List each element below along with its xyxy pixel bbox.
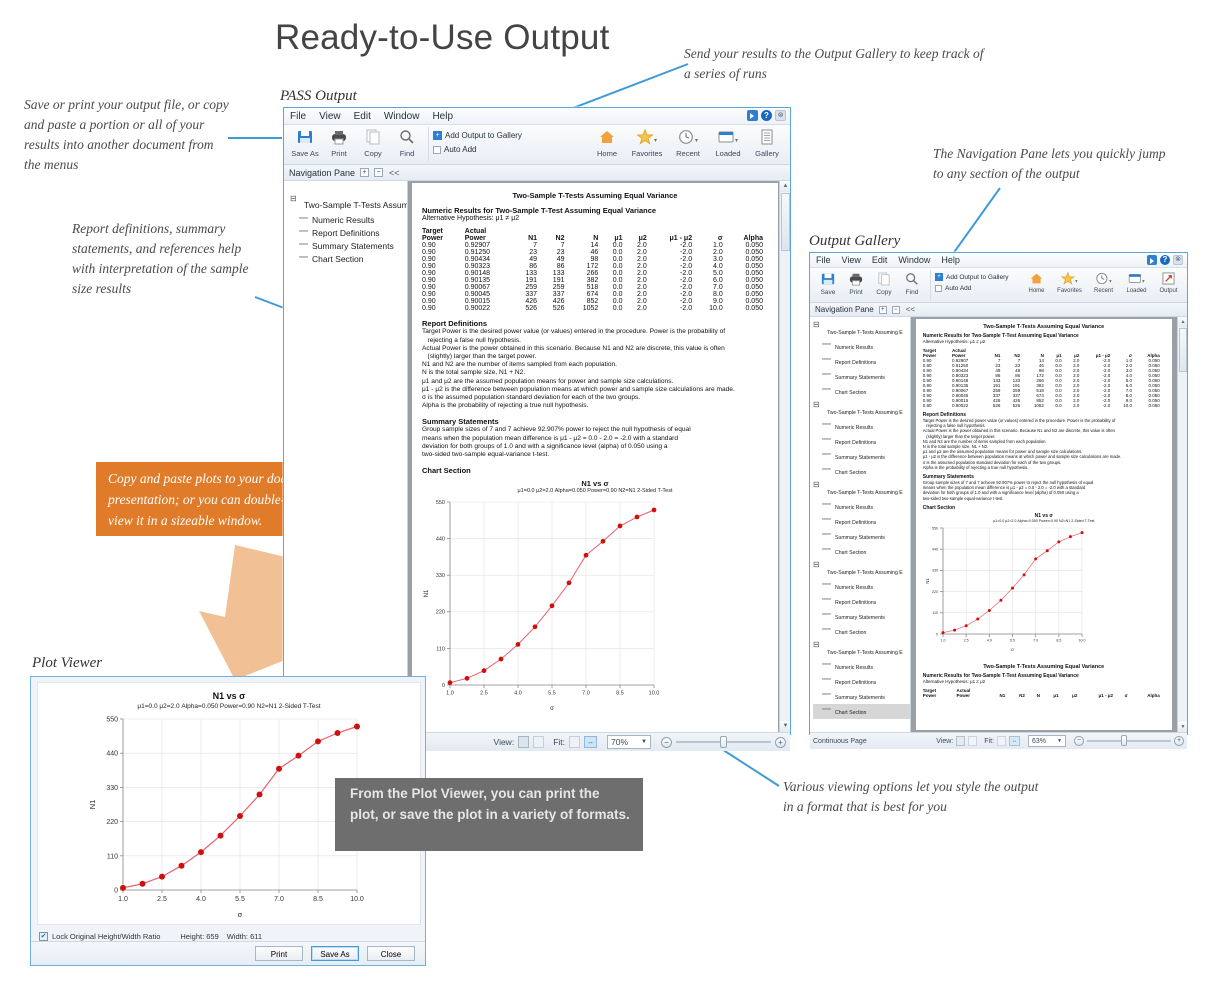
- table-cell: 0.91250: [465, 249, 515, 256]
- plot-height-label: Height: 659: [180, 932, 218, 941]
- table-cell: 0.90067: [465, 284, 515, 291]
- gallery-summary-text: Group sample sizes of 7 and 7 achieve 92…: [923, 480, 1165, 501]
- help-icon[interactable]: ?: [761, 110, 772, 121]
- gallery-chart-heading: Chart Section: [923, 505, 1165, 511]
- expand-all-icon[interactable]: +: [360, 168, 369, 177]
- report-line: Group sample sizes of 7 and 7 achieve 92…: [422, 426, 768, 434]
- pass-view-controls: View: Fit: ↔ 70% ▼ − +: [494, 735, 786, 749]
- table-cell: 0.90323: [465, 263, 515, 270]
- gallery-label: Gallery: [748, 149, 786, 158]
- table-cell: 0.90: [422, 305, 465, 312]
- tree-label: Summary Statements: [831, 535, 885, 541]
- recent-button[interactable]: Recent: [1087, 270, 1120, 294]
- report-line: deviation for both groups of 1.0 and wit…: [422, 443, 768, 451]
- minimize-icon[interactable]: ⊗: [1173, 255, 1183, 265]
- svg-text:7.0: 7.0: [582, 691, 590, 697]
- table-header-cell: N2: [1010, 693, 1030, 698]
- scroll-down-arrow[interactable]: ▼: [1178, 722, 1187, 732]
- table-cell: 0.050: [728, 249, 768, 256]
- star-icon: [1052, 272, 1087, 287]
- printer-icon: [842, 272, 870, 288]
- svg-text:σ: σ: [1011, 647, 1014, 652]
- print-button[interactable]: Print: [255, 946, 303, 961]
- table-cell: 49: [542, 256, 569, 263]
- table-cell: 0.90148: [465, 270, 515, 277]
- report-line: N is the total sample size, N1 + N2.: [422, 369, 768, 377]
- auto-add-checkbox[interactable]: Auto Add: [935, 285, 971, 292]
- svg-text:110: 110: [932, 611, 938, 615]
- output-gallery-window[interactable]: File View Edit Window Help ? ⊗ Save Prin…: [809, 252, 1188, 735]
- svg-text:7.0: 7.0: [1033, 638, 1038, 642]
- svg-text:440: 440: [932, 547, 938, 551]
- list-icon: [748, 129, 786, 148]
- copy-icon: [356, 129, 390, 148]
- pass-document-pane[interactable]: Two-Sample T-Tests Assuming Equal Varian…: [408, 181, 790, 732]
- table-cell: 1052: [569, 305, 603, 312]
- tree-label: Chart Section: [831, 710, 866, 716]
- th-target: Target: [422, 228, 465, 235]
- home-button[interactable]: Home: [588, 127, 626, 158]
- svg-text:2.5: 2.5: [963, 638, 968, 642]
- loaded-label: Loaded: [1120, 288, 1153, 294]
- table-cell: 259: [542, 284, 569, 291]
- pass-ribbon[interactable]: Save As Print Copy Find: [284, 125, 790, 165]
- table-cell: 0.0: [603, 242, 627, 249]
- table-cell: 0.050: [728, 256, 768, 263]
- table-cell: 0.0: [603, 305, 627, 312]
- svg-text:10.0: 10.0: [350, 896, 364, 903]
- plot-width-label: Width: 611: [227, 932, 262, 941]
- page-mode-label: Continuous Page: [813, 738, 867, 745]
- report-line: N1 and N2 are the number of items sample…: [422, 361, 768, 369]
- add-output-to-gallery-button[interactable]: + Add Output to Gallery: [935, 273, 1009, 281]
- chevron-down-icon: ▼: [1057, 738, 1062, 744]
- label-plot-viewer: Plot Viewer: [32, 655, 102, 672]
- zoom-in-button[interactable]: +: [775, 737, 786, 748]
- save-label: Save: [814, 289, 842, 296]
- table-cell: 2.0: [628, 284, 652, 291]
- scroll-up-arrow[interactable]: ▲: [1178, 317, 1187, 327]
- th-actual-power: Power: [465, 235, 515, 242]
- table-row: 0.900.900154264268520.02.0-2.09.00.050: [422, 298, 768, 305]
- save-as-button[interactable]: Save As: [311, 946, 359, 961]
- table-cell: 0.050: [728, 277, 768, 284]
- table-header-cell: μ1: [1045, 693, 1064, 698]
- th-mu-diff: μ1 - μ2: [652, 235, 697, 242]
- gallery-menubar[interactable]: File View Edit Window Help ? ⊗: [810, 253, 1187, 268]
- auto-add-label: Auto Add: [945, 285, 971, 292]
- copy-button[interactable]: Copy: [356, 127, 390, 158]
- view-single-page-icon[interactable]: [956, 736, 965, 746]
- tree-label: Chart Section: [831, 630, 866, 636]
- label-output-gallery: Output Gallery: [809, 233, 900, 250]
- svg-text:330: 330: [436, 573, 445, 579]
- table-cell: 2.0: [697, 249, 728, 256]
- menu-view[interactable]: View: [842, 255, 861, 265]
- svg-text:2.5: 2.5: [480, 691, 488, 697]
- tree-root-label: Two-Sample T-Tests Assuming E: [823, 490, 903, 496]
- copy-button[interactable]: Copy: [870, 270, 898, 296]
- add-output-label: Add Output to Gallery: [445, 131, 522, 140]
- add-output-to-gallery-button[interactable]: + Add Output to Gallery: [433, 131, 522, 140]
- table-cell: 2.0: [628, 263, 652, 270]
- tree-label: Summary Statements: [831, 695, 885, 701]
- gallery-view-controls: View: Fit: ↔ 63% ▼ − +: [936, 735, 1184, 747]
- table-header-cell: Power: [923, 693, 957, 698]
- tree-root-label: Two-Sample T-Tests Assuming E: [823, 410, 903, 416]
- save-as-button[interactable]: Save As: [288, 127, 322, 158]
- tree-label: Chart Section: [831, 550, 866, 556]
- numeric-results-heading: Numeric Results for Two-Sample T-Test As…: [422, 206, 768, 215]
- collapse-all-icon[interactable]: −: [374, 168, 383, 177]
- output-icon: [1153, 272, 1184, 287]
- hide-pane-icon[interactable]: <<: [906, 305, 915, 314]
- favorites-label: Favorites: [626, 149, 668, 158]
- th-alpha: Alpha: [728, 235, 768, 242]
- report-definitions-text: Target Power is the desired power value …: [422, 328, 768, 410]
- print-button[interactable]: Print: [842, 270, 870, 296]
- gallery-navigation-tree[interactable]: Two-Sample T-Tests Assuming ENumeric Res…: [810, 317, 911, 732]
- menu-help[interactable]: Help: [941, 255, 960, 265]
- tree-label: Report Definitions: [831, 440, 876, 446]
- pass-chart-subtitle: μ1=0.0 μ2=2.0 Alpha=0.050 Power=0.90 N2=…: [422, 488, 768, 494]
- ribbon-file-group: Save Print Copy Find: [814, 270, 926, 296]
- zoom-select[interactable]: 63% ▼: [1028, 735, 1066, 747]
- tree-label: Summary Statements: [831, 455, 885, 461]
- table-cell: -2.0: [652, 291, 697, 298]
- svg-text:8.5: 8.5: [1056, 638, 1061, 642]
- zoom-in-button[interactable]: +: [1174, 736, 1184, 746]
- table-cell: -2.0: [652, 298, 697, 305]
- chart-svg: 01102203304405501.02.54.05.57.08.510.0σN…: [923, 524, 1088, 652]
- annotation-report-definitions: Report definitions, summary statements, …: [72, 219, 267, 299]
- ribbon-gallery-group: + Add Output to Gallery Auto Add: [935, 270, 1009, 292]
- gallery-numeric-table-2: Target Actual PowerPowerN1N2Nμ1μ2μ1 - μ2…: [923, 688, 1165, 698]
- gallery-status-bar[interactable]: Continuous Page View: Fit: ↔ 63% ▼ − +: [810, 732, 1187, 749]
- tree-label: Report Definitions: [831, 600, 876, 606]
- checkbox-icon: [433, 146, 441, 154]
- nav-pane-title: Navigation Pane: [289, 168, 355, 178]
- favorites-button[interactable]: Favorites: [1052, 270, 1087, 294]
- svg-text:2.5: 2.5: [157, 896, 167, 903]
- svg-text:σ: σ: [550, 706, 554, 711]
- zoom-slider-thumb[interactable]: [1121, 735, 1127, 746]
- menu-view[interactable]: View: [319, 111, 341, 122]
- find-button[interactable]: Find: [390, 127, 424, 158]
- table-cell: 526: [515, 305, 542, 312]
- copy-label: Copy: [870, 289, 898, 296]
- report-line: rejecting a false null hypothesis.: [422, 337, 768, 345]
- table-cell: 0.90015: [465, 298, 515, 305]
- add-output-label: Add Output to Gallery: [946, 274, 1009, 281]
- run-icon[interactable]: [747, 110, 758, 121]
- save-as-label: Save As: [288, 149, 322, 158]
- zoom-slider[interactable]: [1087, 735, 1171, 747]
- find-label: Find: [898, 289, 926, 296]
- svg-text:0: 0: [114, 887, 118, 894]
- table-cell: 0.0: [603, 298, 627, 305]
- table-header-cell: σ: [1118, 693, 1133, 698]
- table-header-cell: Alpha: [1133, 693, 1165, 698]
- menu-window[interactable]: Window: [898, 255, 930, 265]
- gallery-chart: 01102203304405501.02.54.05.57.08.510.0σN…: [923, 524, 1165, 657]
- ribbon-right-group: Home Favorites Recent Loaded: [588, 127, 786, 158]
- svg-text:220: 220: [932, 590, 938, 594]
- table-cell: 0.90022: [465, 305, 515, 312]
- fit-width-icon[interactable]: ↔: [1009, 736, 1020, 746]
- svg-text:440: 440: [436, 537, 445, 543]
- table-cell: -2.0: [652, 270, 697, 277]
- report-line: Alpha is the probability of rejecting a …: [422, 402, 768, 410]
- close-button[interactable]: Close: [367, 946, 415, 961]
- svg-text:N1: N1: [424, 589, 430, 597]
- svg-text:110: 110: [436, 647, 445, 653]
- gallery-ribbon[interactable]: Save Print Copy Find: [810, 268, 1187, 303]
- svg-text:1.0: 1.0: [118, 896, 128, 903]
- svg-text:4.0: 4.0: [987, 638, 992, 642]
- alt-hypothesis: Alternative Hypothesis: μ1 ≠ μ2: [422, 215, 768, 223]
- gallery-document-pane[interactable]: Two-Sample T-Tests Assuming Equal Varian…: [911, 317, 1187, 732]
- collapse-all-icon[interactable]: −: [892, 306, 900, 314]
- table-row: 0.900.901351911913820.02.0-2.06.00.050: [422, 277, 768, 284]
- tree-label: Numeric Results: [831, 505, 873, 511]
- table-cell: 0.90: [422, 277, 465, 284]
- tree-label: Numeric Results: [308, 215, 374, 225]
- svg-text:σ: σ: [238, 910, 243, 918]
- find-button[interactable]: Find: [898, 270, 926, 296]
- tree-item-chart-section[interactable]: Chart Section: [813, 624, 910, 639]
- annotation-save-print: Save or print your output file, or copy …: [24, 95, 229, 175]
- table-cell: 191: [542, 277, 569, 284]
- plus-icon: +: [935, 273, 943, 281]
- table-cell: 0.0: [603, 291, 627, 298]
- table-cell: 5.0: [697, 270, 728, 277]
- menu-file[interactable]: File: [290, 111, 306, 122]
- table-cell: 0.050: [728, 263, 768, 270]
- table-cell: 0.0: [603, 263, 627, 270]
- table-cell: 2.0: [628, 291, 652, 298]
- zoom-slider[interactable]: [676, 736, 771, 748]
- table-cell: 133: [515, 270, 542, 277]
- svg-text:5.5: 5.5: [235, 896, 245, 903]
- help-icon[interactable]: ?: [1160, 255, 1170, 265]
- table-cell: 0.050: [728, 298, 768, 305]
- copy-icon: [870, 272, 898, 288]
- menu-edit[interactable]: Edit: [872, 255, 888, 265]
- svg-text:550: 550: [932, 526, 938, 530]
- table-cell: 0.92907: [465, 242, 515, 249]
- gallery-nav-pane-header[interactable]: Navigation Pane + − <<: [810, 303, 1187, 317]
- report-line: Actual Power is the power obtained in th…: [422, 345, 768, 353]
- menu-edit[interactable]: Edit: [354, 111, 371, 122]
- table-cell: 259: [515, 284, 542, 291]
- table-row: 0.900.9290777140.02.0-2.01.00.050: [422, 242, 768, 249]
- th-n2: N2: [542, 235, 569, 242]
- table-cell: 0.0: [603, 277, 627, 284]
- scroll-up-arrow[interactable]: ▲: [780, 181, 790, 192]
- gallery-button[interactable]: Gallery: [748, 127, 786, 158]
- view-single-page-icon[interactable]: [518, 736, 529, 748]
- table-cell: 0.0: [603, 270, 627, 277]
- scroll-down-arrow[interactable]: ▼: [780, 721, 790, 732]
- table-cell: 6.0: [697, 277, 728, 284]
- ribbon-separator: [428, 127, 429, 161]
- pass-chart-title: N1 vs σ: [422, 479, 768, 488]
- table-cell: -2.0: [652, 277, 697, 284]
- fit-label: Fit:: [553, 737, 565, 747]
- svg-text:330: 330: [106, 785, 118, 792]
- table-cell: 7: [542, 242, 569, 249]
- gallery-chart-subtitle: μ1=0.0 μ2=2.0 Alpha=0.050 Power=0.90 N2=…: [923, 519, 1165, 523]
- svg-text:1.0: 1.0: [940, 638, 945, 642]
- menu-window[interactable]: Window: [384, 111, 420, 122]
- svg-text:5.5: 5.5: [548, 691, 556, 697]
- loaded-button[interactable]: Loaded: [1120, 270, 1153, 294]
- output-button[interactable]: Output: [1153, 270, 1184, 294]
- hide-pane-icon[interactable]: <<: [389, 168, 400, 178]
- expand-all-icon[interactable]: +: [879, 306, 887, 314]
- menu-file[interactable]: File: [816, 255, 831, 265]
- view-continuous-icon[interactable]: [533, 736, 544, 748]
- report-page: Two-Sample T-Tests Assuming Equal Varian…: [412, 183, 778, 732]
- recent-button[interactable]: Recent: [668, 127, 708, 158]
- tree-item-chart-section[interactable]: Chart Section: [813, 704, 910, 719]
- table-cell: -2.0: [652, 242, 697, 249]
- save-icon: [814, 272, 842, 288]
- table-header-cell: N1: [991, 693, 1011, 698]
- table-cell: 0.90: [422, 298, 465, 305]
- report-line: two-sided two-sample equal-variance t-te…: [422, 451, 768, 459]
- fit-width-icon[interactable]: ↔: [584, 736, 597, 748]
- window-icon: [1120, 272, 1153, 287]
- table-row: 0.900.9002252652610520.02.0-2.010.00.050: [422, 305, 768, 312]
- tree-root-label: Two-Sample T-Tests Assuming E: [823, 570, 903, 576]
- print-button[interactable]: Print: [322, 127, 356, 158]
- table-cell: 2.0: [628, 270, 652, 277]
- ribbon-separator: [930, 270, 931, 300]
- tree-label: Chart Section: [308, 254, 364, 264]
- table-cell: 0.90135: [465, 277, 515, 284]
- table-cell: 2.0: [628, 277, 652, 284]
- svg-text:10.0: 10.0: [1078, 638, 1085, 642]
- report-line: μ1 - μ2 is the difference between popula…: [422, 386, 768, 394]
- home-button[interactable]: Home: [1021, 270, 1052, 294]
- table-cell: -2.0: [652, 263, 697, 270]
- pass-menubar[interactable]: File View Edit Window Help ? ⊗: [284, 108, 790, 125]
- table-cell: 2.0: [628, 305, 652, 312]
- output-label: Output: [1153, 288, 1184, 294]
- recent-label: Recent: [1087, 288, 1120, 294]
- report-line: (slightly) larger than the target power.: [422, 353, 768, 361]
- table-cell: 426: [542, 298, 569, 305]
- table-cell: 0.050: [728, 305, 768, 312]
- clock-icon: [1087, 272, 1120, 287]
- view-continuous-icon[interactable]: [968, 736, 977, 746]
- svg-text:4.0: 4.0: [196, 896, 206, 903]
- table-cell: 0.050: [728, 270, 768, 277]
- zoom-slider-thumb[interactable]: [720, 736, 727, 748]
- table-cell: 0.90045: [465, 291, 515, 298]
- table-row: 0.900.904344949980.02.0-2.03.00.050: [422, 256, 768, 263]
- chart-svg: 01102203304405501.02.54.05.57.08.510.0σN…: [422, 496, 662, 711]
- zoom-out-button[interactable]: −: [661, 737, 672, 748]
- svg-text:0: 0: [936, 632, 938, 636]
- gallery-vertical-scrollbar[interactable]: ▲ ▼: [1177, 317, 1187, 732]
- table-header-cell: μ2: [1064, 693, 1083, 698]
- ribbon-file-group: Save As Print Copy Find: [288, 127, 424, 158]
- save-button[interactable]: Save: [814, 270, 842, 296]
- scroll-thumb[interactable]: [781, 193, 790, 251]
- pass-navigation-tree[interactable]: Two-Sample T-Tests Assuming E Numeric Re…: [284, 181, 408, 732]
- view-label: View:: [494, 737, 515, 747]
- table-cell: 49: [515, 256, 542, 263]
- tree-label: Report Definitions: [831, 520, 876, 526]
- auto-add-checkbox[interactable]: Auto Add: [433, 145, 476, 154]
- svg-text:N1: N1: [925, 578, 930, 584]
- fit-page-icon[interactable]: [997, 736, 1006, 746]
- table-cell: 3.0: [697, 256, 728, 263]
- tree-label: Summary Statements: [831, 615, 885, 621]
- svg-text:550: 550: [106, 716, 118, 723]
- svg-text:1.0: 1.0: [446, 691, 454, 697]
- tree-item-chart-section[interactable]: Chart Section: [813, 384, 910, 399]
- tree-item-chart-section[interactable]: Chart Section: [813, 464, 910, 479]
- numeric-results-table: Target Actual Power Power N1 N2 N μ1: [422, 228, 768, 312]
- table-header-top: Target Actual: [422, 228, 768, 235]
- table-cell: -2.0: [652, 256, 697, 263]
- chart-svg: 01102203304405501.02.54.05.57.08.510.0σN…: [89, 713, 369, 918]
- svg-text:N1: N1: [89, 800, 97, 810]
- table-cell: 98: [569, 256, 603, 263]
- table-cell: 0.90: [422, 256, 465, 263]
- lock-ratio-label: Lock Original Height/Width Ratio: [52, 932, 160, 941]
- tree-item-chart-section[interactable]: Chart Section: [290, 252, 407, 265]
- tree-label: Chart Section: [831, 470, 866, 476]
- pass-output-window[interactable]: File View Edit Window Help ? ⊗ Save As P…: [283, 107, 791, 735]
- table-cell: -2.0: [652, 284, 697, 291]
- tree-item-chart-section[interactable]: Chart Section: [813, 544, 910, 559]
- table-header: Power Power N1 N2 N μ1 μ2 μ1 - μ2 σ Alph…: [422, 235, 768, 242]
- clock-icon: [668, 129, 708, 148]
- chart-section-heading: Chart Section: [422, 466, 768, 475]
- table-cell: 337: [515, 291, 542, 298]
- run-icon[interactable]: [1147, 255, 1157, 265]
- favorites-button[interactable]: Favorites: [626, 127, 668, 158]
- table-cell: 0.050: [728, 284, 768, 291]
- minimize-icon[interactable]: ⊗: [775, 110, 786, 121]
- scroll-thumb[interactable]: [1179, 328, 1187, 372]
- svg-text:110: 110: [107, 853, 118, 860]
- table-cell: 0.90: [422, 249, 465, 256]
- printer-icon: [322, 129, 356, 148]
- zoom-select[interactable]: 70% ▼: [607, 735, 651, 749]
- zoom-out-button[interactable]: −: [1074, 736, 1084, 746]
- tree-label: Numeric Results: [831, 425, 873, 431]
- gallery-definitions-text: Target Power is the desired power value …: [923, 418, 1165, 470]
- plot-viewer-button-row[interactable]: Print Save As Close: [31, 941, 425, 965]
- report-doc-title: Two-Sample T-Tests Assuming Equal Varian…: [422, 191, 768, 200]
- pass-vertical-scrollbar[interactable]: ▲ ▼: [779, 181, 790, 732]
- menu-help[interactable]: Help: [432, 111, 453, 122]
- loaded-button[interactable]: Loaded: [708, 127, 748, 158]
- table-cell: 0.0: [603, 256, 627, 263]
- annotation-navigation-pane: The Navigation Pane lets you quickly jum…: [933, 144, 1173, 184]
- svg-text:0: 0: [442, 683, 445, 689]
- table-cell: 0.050: [728, 242, 768, 249]
- fit-page-icon[interactable]: [569, 736, 580, 748]
- lock-ratio-checkbox[interactable]: ✔: [39, 932, 48, 941]
- pass-nav-pane-header[interactable]: Navigation Pane + − <<: [284, 165, 790, 181]
